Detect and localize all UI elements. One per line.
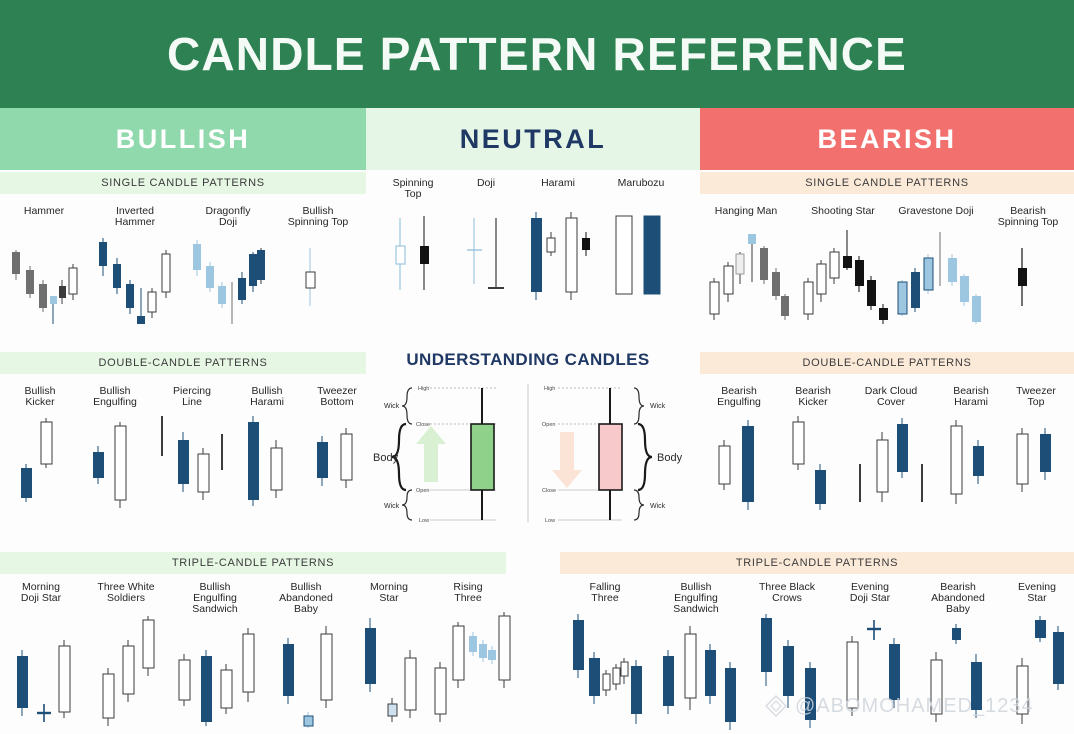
pattern-harami: Harami [518, 178, 598, 318]
band-bearish: BEARISH [700, 108, 1074, 170]
pattern-art [300, 414, 374, 514]
pattern-label: Spinning Top [982, 217, 1074, 229]
pattern-dark-cloud-cover: Dark Cloud Cover [848, 386, 934, 516]
svg-text:High: High [418, 386, 429, 392]
pattern-art [452, 208, 520, 316]
pattern-art [184, 232, 272, 326]
pattern-label: Line [150, 397, 234, 409]
pattern-label: Top [372, 189, 454, 201]
pattern-label: Hammer [2, 206, 86, 218]
pattern-label: Doji [184, 217, 272, 229]
pattern-bearish-kicker: Bearish Kicker [776, 386, 850, 516]
pattern-doji: Doji [452, 178, 520, 318]
pattern-art [4, 414, 76, 514]
pattern-label: Hanging Man [700, 206, 792, 218]
infographic-page: CANDLE PATTERN REFERENCE BULLISH NEUTRAL… [0, 0, 1074, 734]
pattern-label: Doji Star [2, 593, 80, 605]
svg-text:Low: Low [545, 518, 555, 524]
strip-bullish-double: DOUBLE-CANDLE PATTERNS [0, 352, 366, 374]
pattern-bullish-harami: Bullish Harami [228, 386, 306, 516]
pattern-art [2, 612, 80, 730]
pattern-art [2, 228, 86, 324]
band-bullish-label: BULLISH [116, 124, 251, 155]
pattern-tweezer-bottom: Tweezer Bottom [300, 386, 374, 516]
pattern-art [228, 414, 306, 514]
pattern-art [262, 622, 350, 732]
pattern-art [598, 208, 684, 316]
pattern-bullish-abandoned-baby: Bullish Abandoned Baby [262, 582, 350, 732]
pattern-label: Kicker [776, 397, 850, 409]
pattern-hammer: Hammer [2, 206, 86, 326]
pattern-label: Harami [934, 397, 1008, 409]
pattern-art [700, 414, 778, 514]
band-neutral-label: NEUTRAL [460, 124, 607, 155]
pattern-art [518, 208, 598, 316]
svg-text:Body: Body [373, 452, 399, 464]
strip-bearish-single: SINGLE CANDLE PATTERNS [700, 172, 1074, 194]
pattern-piercing-line: Piercing Line [150, 386, 234, 516]
pattern-art [934, 414, 1008, 514]
pattern-bullish-engulfing-sandwich-bear: Bullish Engulfing Sandwich [650, 582, 742, 732]
pattern-label: Shooting Star [796, 206, 890, 218]
pattern-art [272, 234, 364, 326]
pattern-label: Three [426, 593, 510, 605]
band-bullish: BULLISH [0, 108, 366, 170]
pattern-morning-star: Morning Star [350, 582, 428, 732]
pattern-tweezer-top: Tweezer Top [1000, 386, 1072, 516]
pattern-bullish-kicker: Bullish Kicker [4, 386, 76, 516]
strip-bearish-double: DOUBLE-CANDLE PATTERNS [700, 352, 1074, 374]
pattern-art [848, 414, 934, 514]
pattern-art [168, 622, 262, 732]
pattern-label: Spinning Top [272, 217, 364, 229]
svg-text:Wick: Wick [650, 503, 666, 510]
band-bearish-label: BEARISH [817, 124, 956, 155]
pattern-art [372, 208, 454, 316]
pattern-label: Cover [848, 397, 934, 409]
pattern-label: Kicker [4, 397, 76, 409]
watermark: @ABOMOHAMED_1234 [764, 694, 1034, 718]
pattern-bullish-engulfing-sandwich: Bullish Engulfing Sandwich [168, 582, 262, 732]
pattern-label: Top [1000, 397, 1072, 409]
pattern-art [566, 612, 644, 730]
pattern-inverted-hammer: Inverted Hammer [90, 206, 180, 326]
svg-text:Body: Body [657, 452, 683, 464]
pattern-marubozu: Marubozu [598, 178, 684, 318]
pattern-spinning-top: Spinning Top [372, 178, 454, 318]
pattern-label: Bottom [300, 397, 374, 409]
diamond-icon [764, 694, 788, 718]
pattern-rising-three: Rising Three [426, 582, 510, 732]
svg-text:High: High [544, 386, 555, 392]
pattern-bearish-harami: Bearish Harami [934, 386, 1008, 516]
pattern-art [982, 234, 1074, 326]
svg-text:Open: Open [416, 488, 429, 494]
pattern-art [890, 228, 982, 326]
strip-bullish-single: SINGLE CANDLE PATTERNS [0, 172, 366, 194]
pattern-bearish-engulfing: Bearish Engulfing [700, 386, 778, 516]
svg-text:Wick: Wick [384, 403, 400, 410]
pattern-label: Three [566, 593, 644, 605]
pattern-label: Engulfing [700, 397, 778, 409]
svg-text:Open: Open [542, 422, 555, 428]
pattern-art [76, 414, 154, 514]
pattern-dragonfly-doji: Dragonfly Doji [184, 206, 272, 326]
strip-bullish-triple: TRIPLE-CANDLE PATTERNS [0, 552, 506, 574]
pattern-art [350, 612, 428, 730]
pattern-label: Crows [744, 593, 830, 605]
pattern-art [650, 622, 742, 732]
pattern-bearish-spinning-top: Bearish Spinning Top [982, 206, 1074, 326]
pattern-morning-doji-star: Morning Doji Star [2, 582, 80, 732]
pattern-art [700, 228, 792, 326]
pattern-art [776, 414, 850, 514]
pattern-bullish-spinning-top: Bullish Spinning Top [272, 206, 364, 326]
pattern-label: Baby [262, 604, 350, 616]
pattern-label: Sandwich [168, 604, 262, 616]
band-neutral: NEUTRAL [366, 108, 700, 170]
title-bar: CANDLE PATTERN REFERENCE [0, 0, 1074, 108]
pattern-art [796, 228, 890, 326]
page-title: CANDLE PATTERN REFERENCE [167, 27, 907, 81]
pattern-label: Doji [452, 178, 520, 190]
svg-text:Close: Close [542, 488, 556, 494]
svg-text:Close: Close [416, 422, 430, 428]
pattern-hanging-man: Hanging Man [700, 206, 792, 326]
pattern-label: Harami [518, 178, 598, 190]
svg-text:Low: Low [419, 518, 429, 524]
pattern-bullish-engulfing: Bullish Engulfing [76, 386, 154, 516]
pattern-label: Doji Star [828, 593, 912, 605]
pattern-label: Star [350, 593, 428, 605]
pattern-gravestone-doji: Gravestone Doji [890, 206, 982, 326]
watermark-text: @ABOMOHAMED_1234 [795, 695, 1034, 718]
pattern-label: Engulfing [76, 397, 154, 409]
pattern-art [150, 414, 234, 514]
pattern-label: Baby [912, 604, 1004, 616]
pattern-label: Sandwich [650, 604, 742, 616]
pattern-label: Hammer [90, 217, 180, 229]
understanding-candles-title: UNDERSTANDING CANDLES [372, 350, 684, 370]
pattern-art [82, 612, 170, 730]
pattern-falling-three: Falling Three [566, 582, 644, 732]
pattern-three-white-soldiers: Three White Soldiers [82, 582, 170, 732]
svg-text:Wick: Wick [384, 503, 400, 510]
pattern-art [90, 232, 180, 326]
pattern-label: Star [1000, 593, 1074, 605]
svg-text:Wick: Wick [650, 403, 666, 410]
pattern-label: Soldiers [82, 593, 170, 605]
pattern-label: Marubozu [598, 178, 684, 190]
pattern-art [1000, 414, 1072, 514]
strip-bearish-triple: TRIPLE-CANDLE PATTERNS [560, 552, 1074, 574]
pattern-shooting-star: Shooting Star [796, 206, 890, 326]
pattern-label: Gravestone Doji [890, 206, 982, 218]
pattern-art [426, 612, 510, 730]
pattern-label: Harami [228, 397, 306, 409]
understanding-candles-diagram: High Close Open Low Wick Body Wick [372, 378, 684, 528]
